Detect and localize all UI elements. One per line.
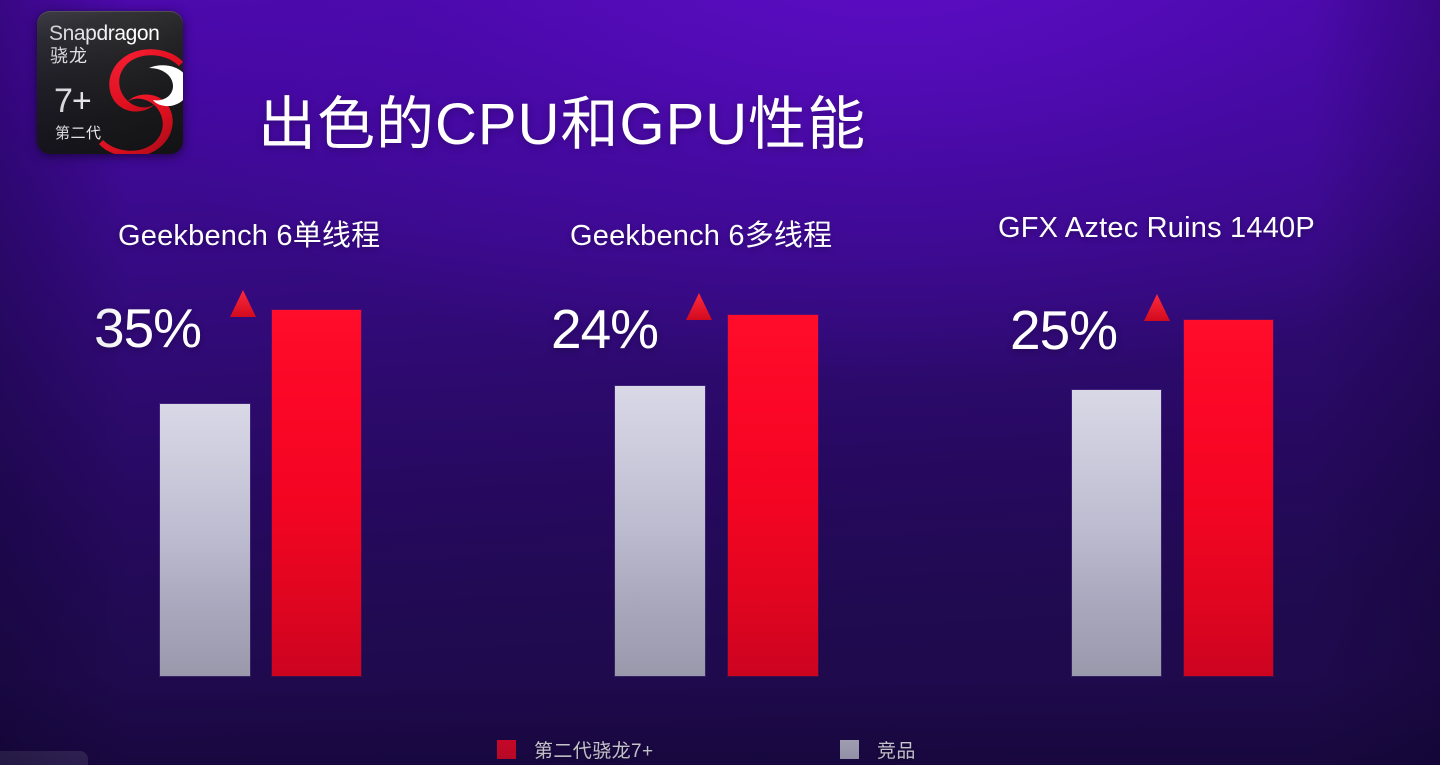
legend-swatch [840,740,859,759]
chart-legend: 第二代骁龙7+竞品 [0,737,1440,765]
bar-group-label: GFX Aztec Ruins 1440P [998,212,1315,245]
legend-item: 第二代骁龙7+ [497,737,653,761]
player-control-sliver [0,751,88,765]
legend-item: 竞品 [840,737,916,761]
legend-label: 竞品 [877,736,916,763]
bar-group: GFX Aztec Ruins 1440P25% [0,0,1440,765]
up-triangle-icon [1143,293,1171,322]
bar-competitor [1072,390,1161,676]
bar-snapdragon [1184,320,1273,676]
legend-swatch [497,740,516,759]
presentation-slide: Snapdragon 骁龙 7+ 第二代 出色的CPU和GPU性能 Geekbe… [0,0,1440,765]
legend-label: 第二代骁龙7+ [534,736,653,763]
performance-bar-chart: Geekbench 6单线程35%Geekbench 6多线程24%GFX Az… [0,0,1440,765]
delta-percentage-label: 25% [1010,303,1117,358]
